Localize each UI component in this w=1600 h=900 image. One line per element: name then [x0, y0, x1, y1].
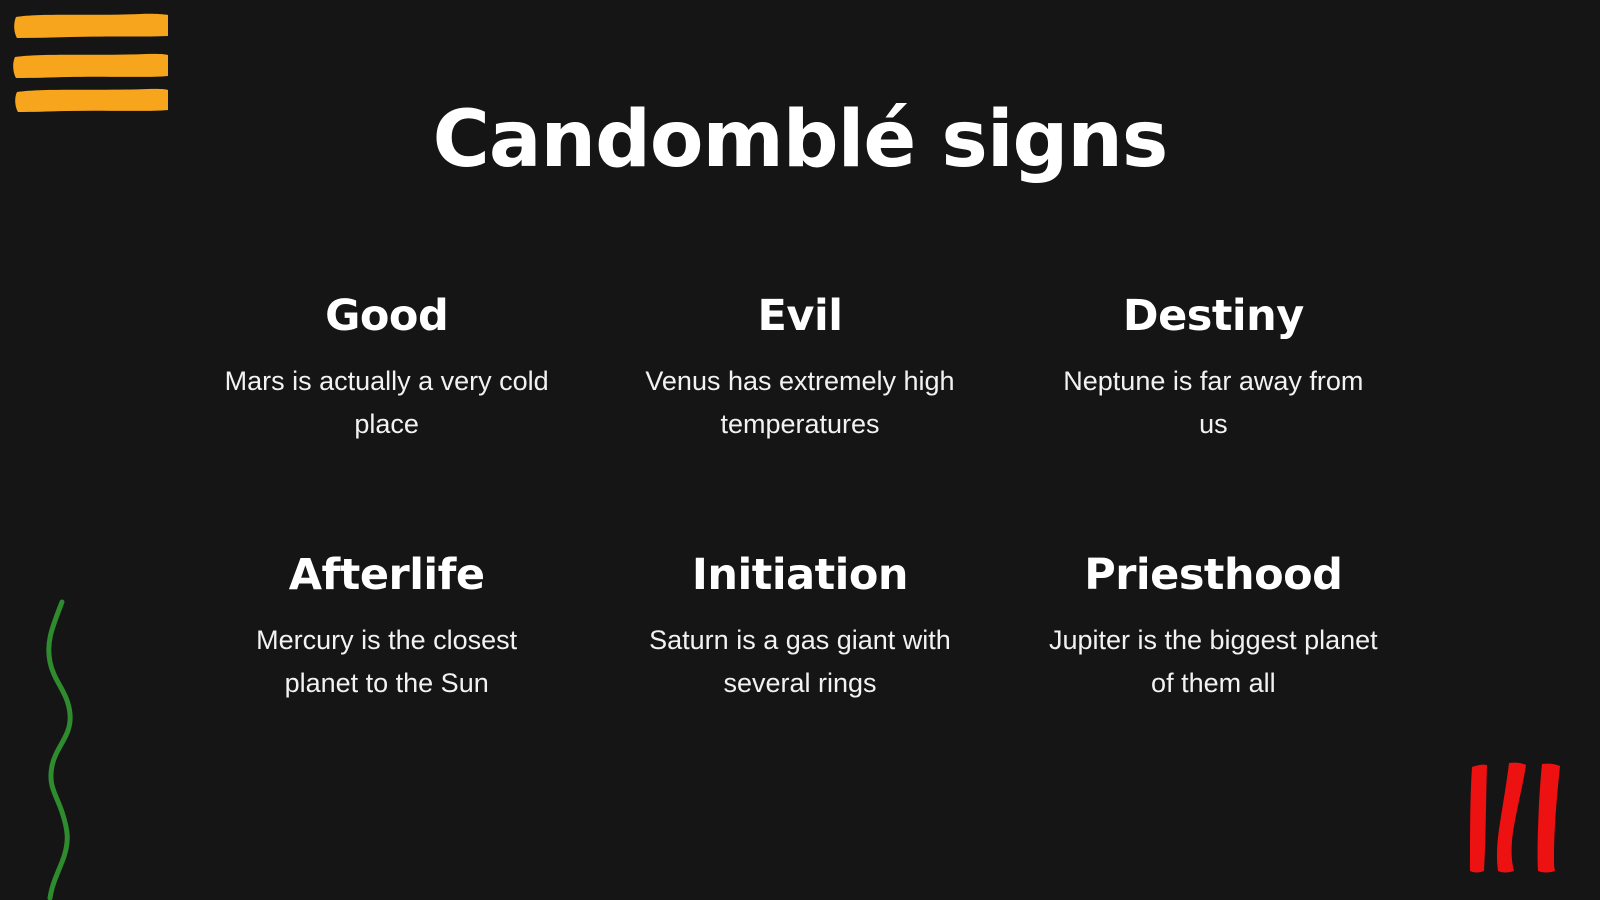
card-title: Priesthood [1007, 547, 1420, 603]
card-priesthood: Priesthood Jupiter is the biggest planet… [1007, 547, 1420, 705]
signs-grid: Good Mars is actually a very cold place … [180, 288, 1420, 705]
card-body: Jupiter is the biggest planet of them al… [1048, 619, 1378, 705]
card-body: Mars is actually a very cold place [222, 360, 552, 446]
card-body: Saturn is a gas giant with several rings [635, 619, 965, 705]
card-title: Destiny [1007, 288, 1420, 344]
green-squiggle-icon [20, 580, 140, 900]
card-good: Good Mars is actually a very cold place [180, 288, 593, 446]
card-afterlife: Afterlife Mercury is the closest planet … [180, 547, 593, 705]
card-body: Venus has extremely high temperatures [635, 360, 965, 446]
card-body: Mercury is the closest planet to the Sun [222, 619, 552, 705]
card-title: Evil [593, 288, 1006, 344]
card-title: Good [180, 288, 593, 344]
card-initiation: Initiation Saturn is a gas giant with se… [593, 547, 1006, 705]
card-evil: Evil Venus has extremely high temperatur… [593, 288, 1006, 446]
card-body: Neptune is far away from us [1048, 360, 1378, 446]
slide-canvas: Candomblé signs Good Mars is actually a … [0, 0, 1600, 900]
card-destiny: Destiny Neptune is far away from us [1007, 288, 1420, 446]
red-brush-marks-icon [1450, 745, 1590, 885]
card-title: Initiation [593, 547, 1006, 603]
page-title: Candomblé signs [0, 92, 1600, 188]
card-title: Afterlife [180, 547, 593, 603]
